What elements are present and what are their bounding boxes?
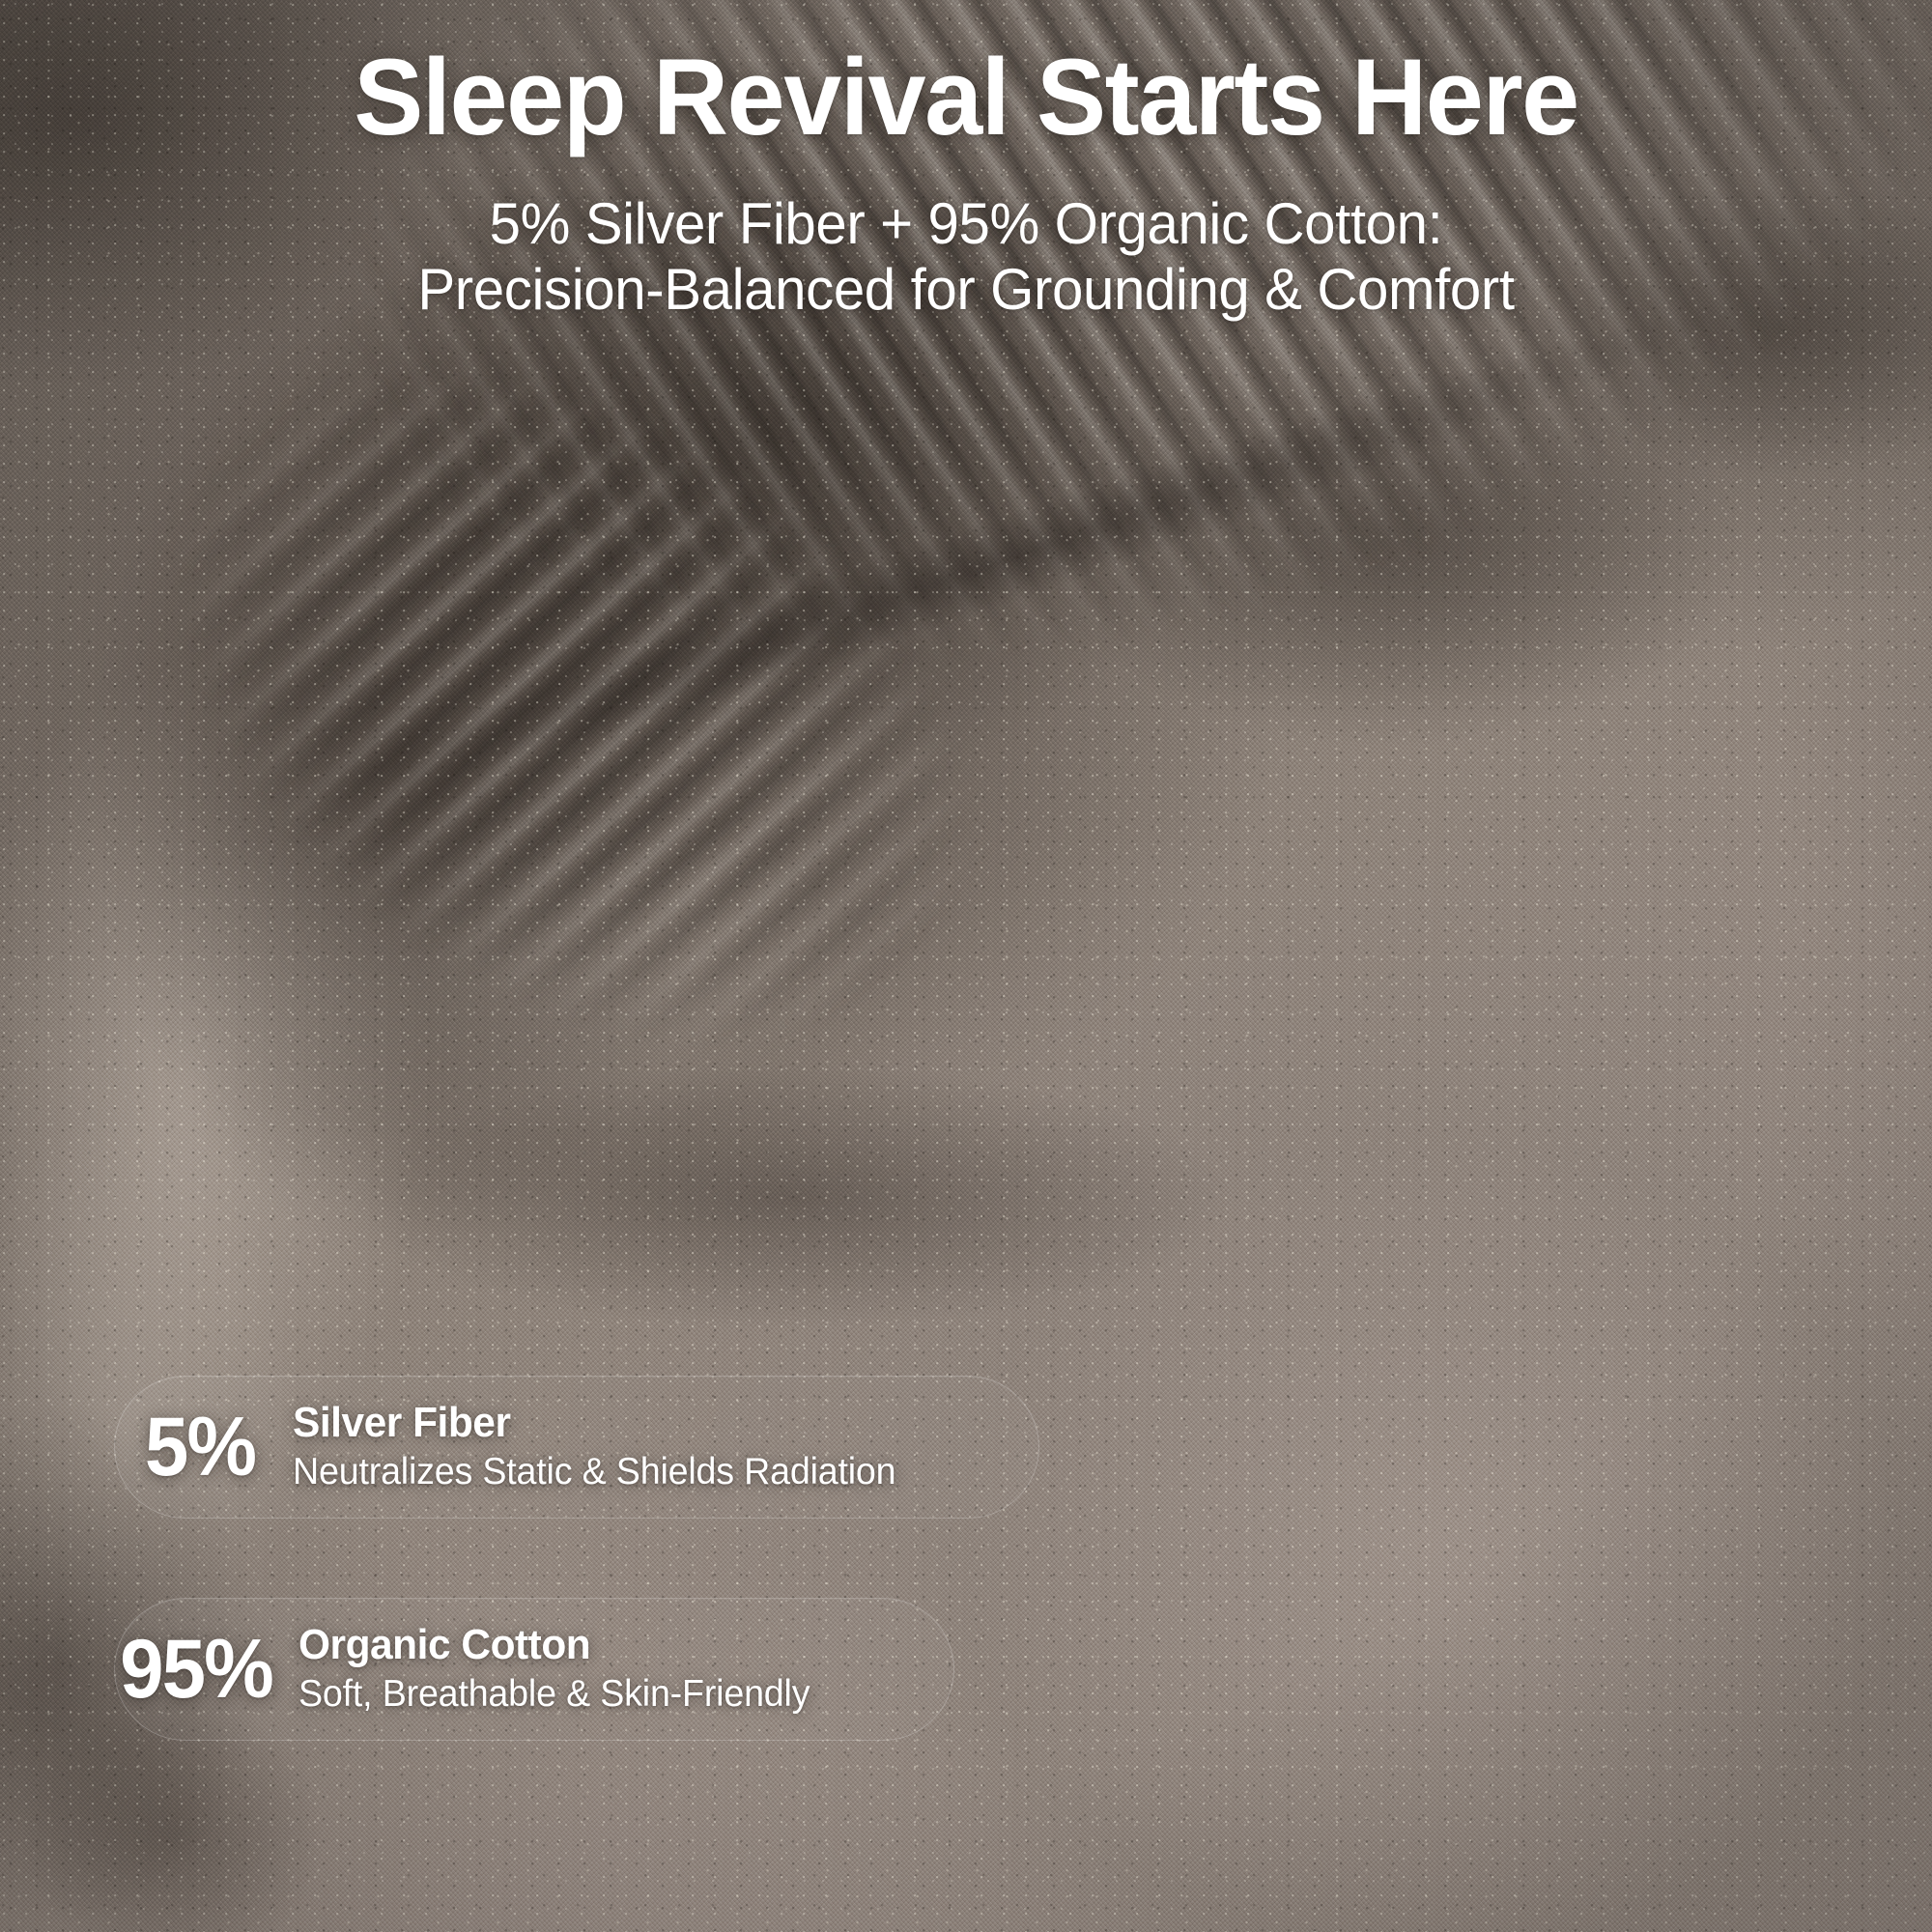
badge-percent: 5%: [119, 1400, 280, 1495]
badge-text-group: Silver Fiber Neutralizes Static & Shield…: [285, 1399, 1038, 1495]
subheadline-line-1: 5% Silver Fiber + 95% Organic Cotton:: [29, 191, 1903, 257]
badge-text-group: Organic Cotton Soft, Breathable & Skin-F…: [291, 1621, 953, 1718]
composition-badge-organic-cotton: 95% Organic Cotton Soft, Breathable & Sk…: [114, 1598, 954, 1741]
composition-badge-list: 5% Silver Fiber Neutralizes Static & Shi…: [0, 1376, 1932, 1741]
badge-percent: 95%: [106, 1622, 286, 1718]
composition-badge-silver-fiber: 5% Silver Fiber Neutralizes Static & Shi…: [114, 1376, 1039, 1519]
badge-description: Neutralizes Static & Shields Radiation: [293, 1450, 1012, 1495]
badge-title: Organic Cotton: [298, 1621, 930, 1668]
subheadline-line-2: Precision-Balanced for Grounding & Comfo…: [29, 257, 1903, 323]
badge-description: Soft, Breathable & Skin-Friendly: [298, 1672, 930, 1718]
subheadline: 5% Silver Fiber + 95% Organic Cotton: Pr…: [29, 191, 1903, 324]
text-overlay: Sleep Revival Starts Here 5% Silver Fibe…: [0, 0, 1932, 1932]
page-title: Sleep Revival Starts Here: [34, 43, 1898, 153]
badge-title: Silver Fiber: [293, 1399, 1012, 1446]
product-feature-image: Sleep Revival Starts Here 5% Silver Fibe…: [0, 0, 1932, 1932]
